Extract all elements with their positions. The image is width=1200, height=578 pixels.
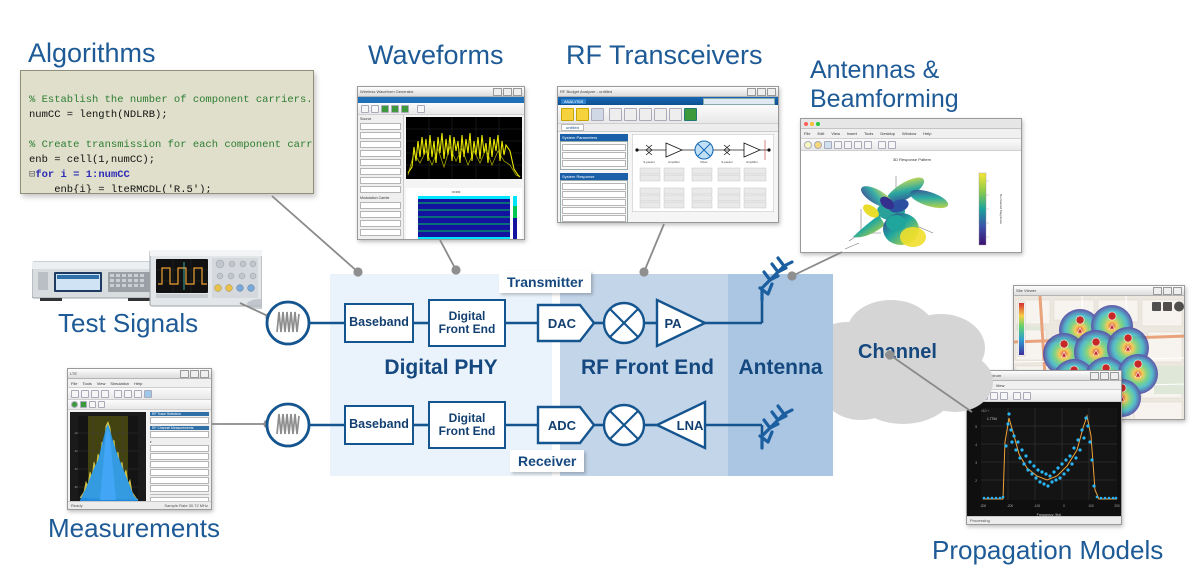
block-label-tx-baseband: Baseband — [349, 316, 409, 330]
block-label-tx-dfe: Digital Front End — [439, 310, 496, 336]
block-label-adc: ADC — [548, 418, 577, 433]
tag-receiver: Receiver — [510, 450, 584, 472]
antenna-symbol-rx — [760, 406, 792, 448]
block-label-rx-dfe: Digital Front End — [439, 412, 496, 438]
tag-transmitter: Transmitter — [499, 271, 591, 293]
block-rx-baseband[interactable]: Baseband — [344, 405, 414, 445]
block-tx-digital-front-end[interactable]: Digital Front End — [428, 299, 506, 347]
signal-chain-graphics: DAC PA ADC LNA — [0, 0, 1200, 578]
block-tx-baseband[interactable]: Baseband — [344, 303, 414, 343]
block-rx-digital-front-end[interactable]: Digital Front End — [428, 401, 506, 449]
block-label-lna: LNA — [677, 418, 704, 433]
diagram-canvas: Algorithms Waveforms RF Transceivers Ant… — [0, 0, 1200, 578]
block-label-dac: DAC — [548, 316, 577, 331]
block-label-rx-baseband: Baseband — [349, 418, 409, 432]
block-label-pa: PA — [664, 316, 682, 331]
leader-lines — [212, 196, 972, 424]
antenna-symbol-tx — [760, 258, 792, 300]
